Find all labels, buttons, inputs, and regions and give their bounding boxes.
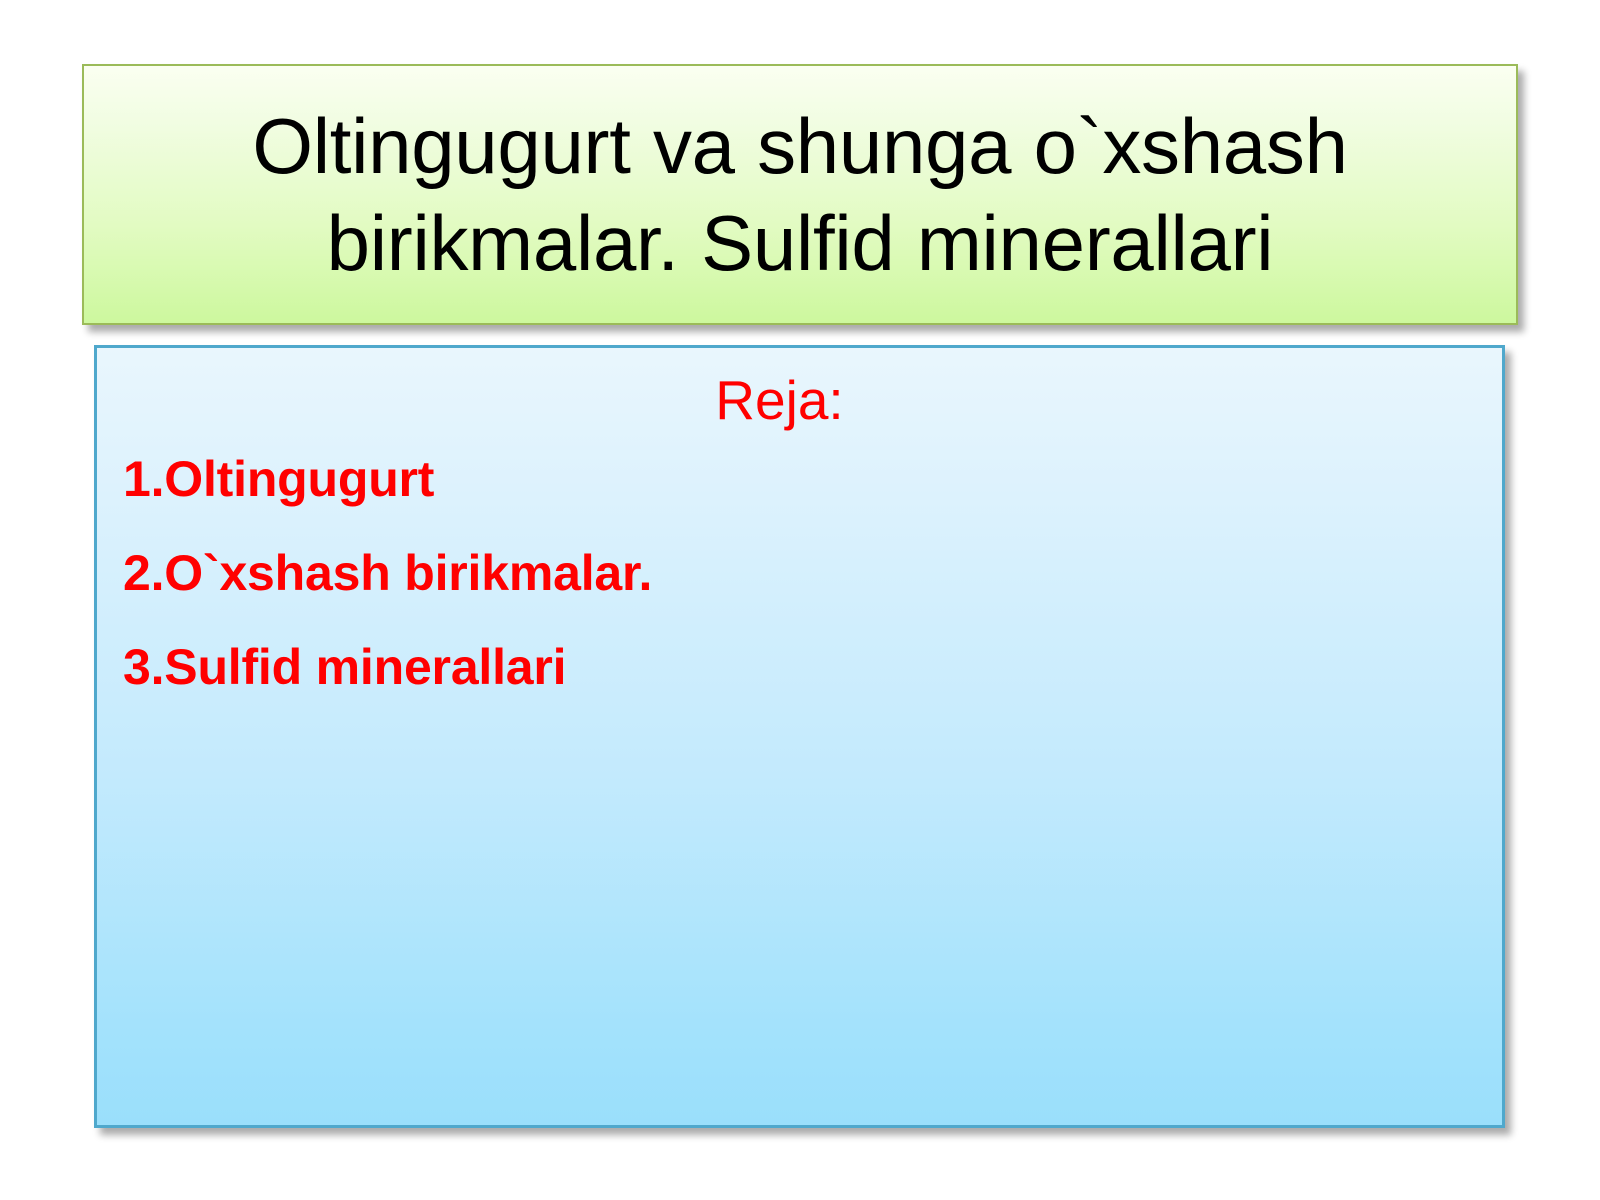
slide-title-box: Oltingugurt va shunga o`xshash birikmala… bbox=[82, 64, 1518, 325]
presentation-slide: Oltingugurt va shunga o`xshash birikmala… bbox=[0, 0, 1600, 1200]
agenda-heading: Reja: bbox=[123, 370, 1476, 432]
list-item: 3.Sulfid minerallari bbox=[123, 642, 1476, 692]
list-item: 2.O`xshash birikmalar. bbox=[123, 548, 1476, 598]
slide-content-box: Reja: 1.Oltingugurt 2.O`xshash birikmala… bbox=[94, 345, 1505, 1128]
slide-title: Oltingugurt va shunga o`xshash birikmala… bbox=[84, 98, 1516, 291]
agenda-list: 1.Oltingugurt 2.O`xshash birikmalar. 3.S… bbox=[123, 454, 1476, 692]
list-item: 1.Oltingugurt bbox=[123, 454, 1476, 504]
